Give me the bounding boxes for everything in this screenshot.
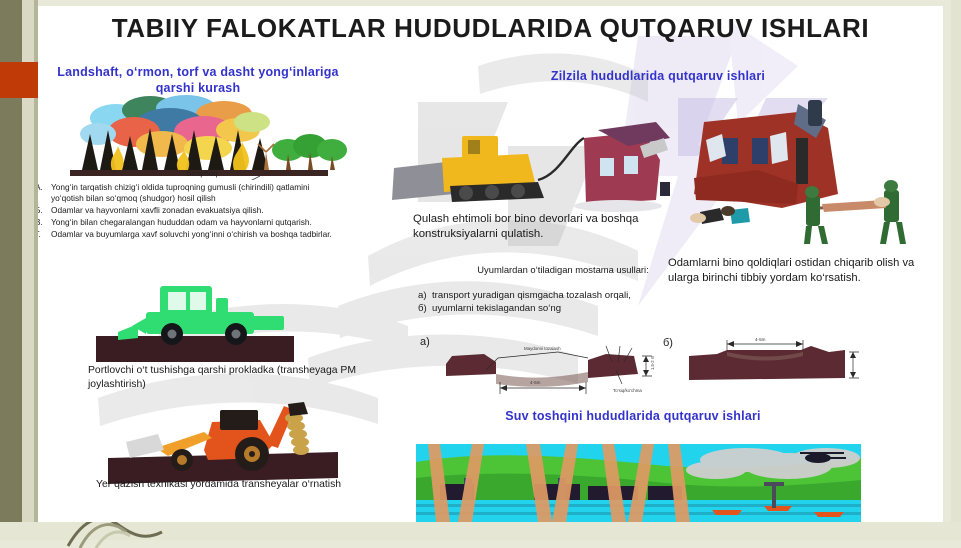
- section-heading-quake: Zilzila hududlarida qutqaruv ishlari: [508, 68, 808, 84]
- list-marker: б): [418, 303, 432, 316]
- caption-prokladka: Portlovchi o‘t tushishga qarshi prokladk…: [88, 364, 388, 391]
- diagram-label-b: б): [663, 337, 673, 349]
- forest-fire-illustration: [38, 94, 348, 180]
- list-marker: A.: [38, 182, 51, 204]
- list-item: В. Yong‘in bilan chegaralangan hududdan …: [38, 217, 332, 228]
- slide-root: TABIIY FALOKATLAR HUDUDLARIDA QUTQARUV I…: [0, 0, 961, 540]
- diagram-b: 4-5m: [683, 334, 863, 396]
- methods-list: a) transport yuradigan qismgacha tozalas…: [418, 290, 668, 316]
- section-heading-flood: Suv toshqini hududlarida qutqaruv ishlar…: [468, 408, 798, 424]
- subheading-methods: Uyumlardan o‘tiladigan mostama usullari:: [458, 264, 668, 276]
- list-text: Odamlar va buyumlarga xavf soluvchi yong…: [51, 229, 332, 240]
- right-edge-band: [951, 0, 961, 540]
- text-demolition: Qulash ehtimoli bor bino devorlari va bo…: [413, 212, 663, 241]
- svg-text:To‘siq/ko‘chma: To‘siq/ko‘chma: [613, 388, 642, 393]
- text-rescue: Odamlarni bino qoldiqlari ostidan chiqar…: [668, 256, 928, 285]
- list-marker: Г.: [38, 229, 51, 240]
- list-marker: В.: [38, 217, 51, 228]
- page-title: TABIIY FALOKATLAR HUDUDLARIDA QUTQARUV I…: [68, 14, 913, 44]
- list-marker: Б.: [38, 205, 51, 216]
- list-text: uyumlarni tekislagandan so‘ng: [432, 303, 561, 316]
- list-text: Yong‘in bilan chegaralangan hududdan oda…: [51, 217, 332, 228]
- svg-text:4-5m: 4-5m: [530, 380, 541, 385]
- demolition-illustration: [388, 116, 678, 216]
- section-heading-fire: Landshaft, o‘rmon, torf va dasht yong‘in…: [48, 64, 348, 97]
- svg-text:4-5m: 4-5m: [755, 337, 766, 342]
- slide-content-card: TABIIY FALOKATLAR HUDUDLARIDA QUTQARUV I…: [38, 6, 943, 522]
- list-text: Yong‘in tarqatish chizig‘i oldida tuproq…: [51, 182, 332, 204]
- list-text: transport yuradigan qismgacha tozalash o…: [432, 290, 631, 303]
- diagram-a: Maydonni tozalash 4-5m To‘siq/ko‘chma 1,…: [438, 334, 668, 402]
- green-tractor-illustration: [88, 274, 318, 366]
- svg-text:Maydonni tozalash: Maydonni tozalash: [524, 346, 561, 351]
- list-item: A. Yong‘in tarqatish chizig‘i oldida tup…: [38, 182, 332, 204]
- fire-measures-list: A. Yong‘in tarqatish chizig‘i oldida tup…: [38, 182, 332, 241]
- flood-scene-illustration: [416, 444, 861, 522]
- diagram-label-a: a): [420, 336, 430, 348]
- illustration-label-sokmoq: So‘qmoq: [186, 169, 218, 178]
- svg-text:1,5-2 m: 1,5-2 m: [650, 355, 655, 370]
- list-item: Б. Odamlar va hayvonlarni xavfli zonadan…: [38, 205, 332, 216]
- list-item: б) uyumlarni tekislagandan so‘ng: [418, 303, 668, 316]
- list-item: Г. Odamlar va buyumlarga xavf soluvchi y…: [38, 229, 332, 240]
- list-item: a) transport yuradigan qismgacha tozalas…: [418, 290, 668, 303]
- earthquake-rescue-illustration: [678, 98, 943, 248]
- orange-excavator-illustration: [108, 392, 368, 488]
- list-text: Odamlar va hayvonlarni xavfli zonadan ev…: [51, 205, 332, 216]
- list-marker: a): [418, 290, 432, 303]
- caption-yer-qazish: Yer qazish texnikasi yordamida transheya…: [96, 478, 396, 492]
- bottom-edge-band: [0, 522, 961, 540]
